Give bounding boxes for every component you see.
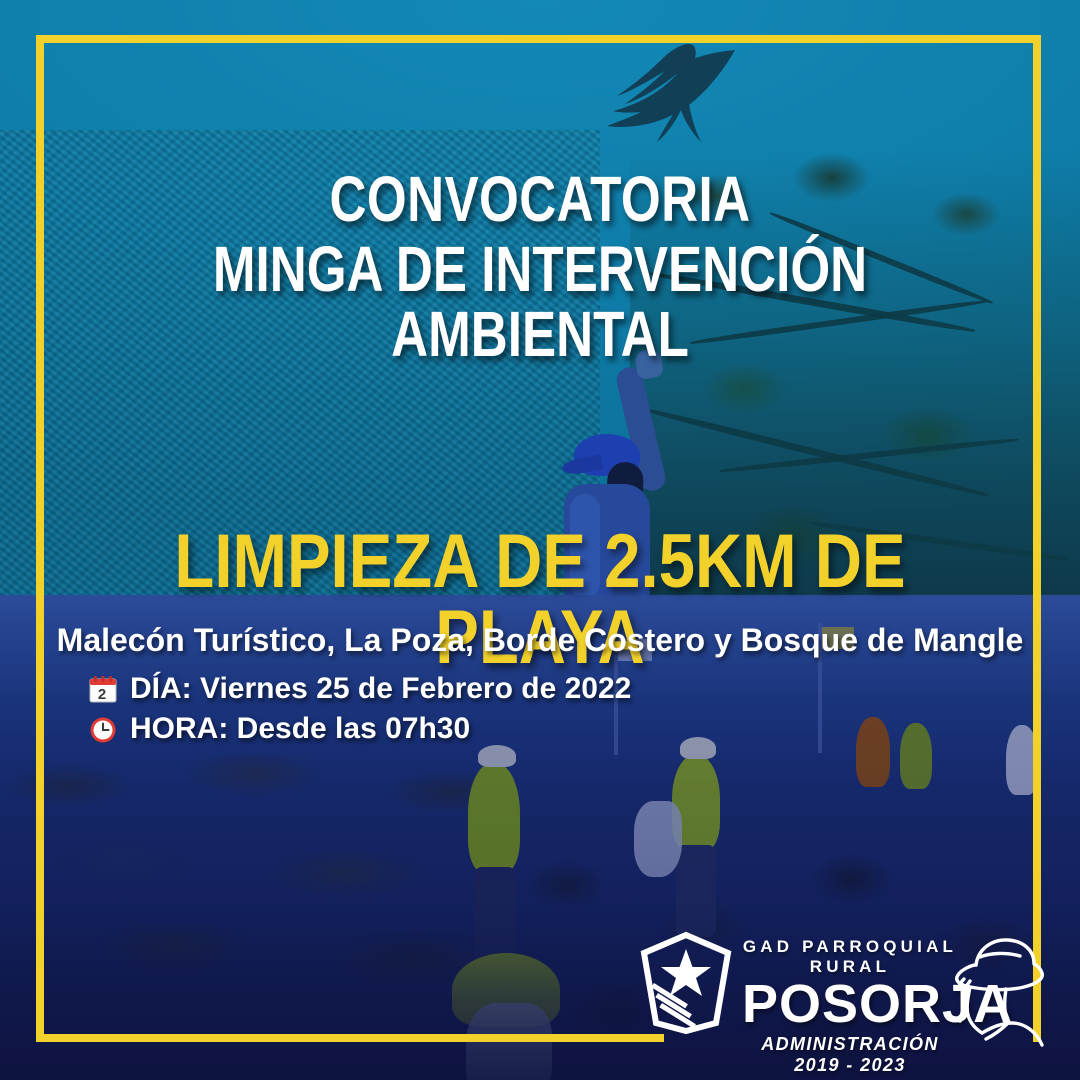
feature-subtitle: Malecón Turístico, La Poza, Borde Coster… [0,622,1080,659]
svg-text:2: 2 [98,686,106,703]
calendar-icon: 2 [88,674,118,704]
detail-time-label: HORA: [130,712,228,745]
shield-star-icon [638,931,734,1035]
headline-block: CONVOCATORIA MINGA DE INTERVENCIÓN AMBIE… [0,168,1080,367]
logo-kicker: GAD PARROQUIAL RURAL [742,937,958,977]
man-with-hat-icon [946,927,1054,1053]
frigatebird-silhouette-icon [585,42,775,162]
headline-line-2: MINGA DE INTERVENCIÓN AMBIENTAL [108,237,972,368]
detail-date-label: DÍA: [130,672,192,705]
organization-logo: GAD PARROQUIAL RURAL POSORJA ADMINISTRAC… [638,925,1050,1055]
logo-name: POSORJA [742,979,958,1030]
detail-row-time: HORA: Desde las 07h30 [88,712,631,746]
logo-administration: ADMINISTRACIÓN 2019 - 2023 [742,1034,958,1076]
clock-icon [88,714,118,744]
detail-time-value: Desde las 07h30 [237,712,470,745]
detail-date-value: Viernes 25 de Febrero de 2022 [200,672,631,705]
frame-border-top [36,35,1041,43]
headline-line-1: CONVOCATORIA [108,168,972,231]
event-details: 2 DÍA: Viernes 25 de Febrero de 2022 HOR… [88,672,631,752]
frame-border-bottom [36,1034,664,1042]
logo-text-block: GAD PARROQUIAL RURAL POSORJA ADMINISTRAC… [742,925,958,1076]
detail-time-text: HORA: Desde las 07h30 [130,712,470,746]
detail-row-date: 2 DÍA: Viernes 25 de Febrero de 2022 [88,672,631,706]
poster-canvas: CONVOCATORIA MINGA DE INTERVENCIÓN AMBIE… [0,0,1080,1080]
detail-date-text: DÍA: Viernes 25 de Febrero de 2022 [130,672,631,706]
